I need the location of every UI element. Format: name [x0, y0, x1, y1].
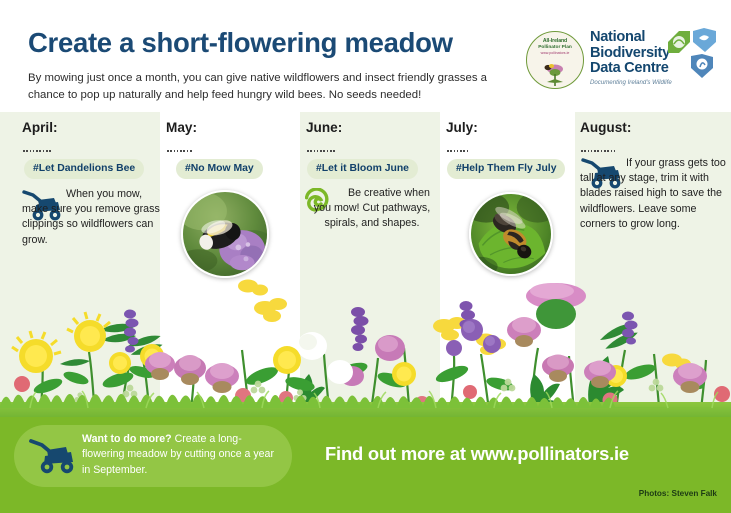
- month-label-april: April:: [22, 120, 58, 135]
- logo-group: All-Ireland Pollinator Plan www.pollinat…: [514, 28, 719, 94]
- all-ireland-pollinator-plan-badge: All-Ireland Pollinator Plan www.pollinat…: [526, 31, 584, 89]
- meadow-illustration: [0, 268, 731, 428]
- hashtag-may: #No Mow May: [176, 159, 263, 179]
- hashtag-april: #Let Dandelions Bee: [24, 159, 144, 179]
- photo-credit: Photos: Steven Falk: [639, 489, 717, 498]
- dotted-rule-may: [167, 139, 193, 142]
- org-tagline: Documenting Ireland's Wildlife: [590, 79, 672, 86]
- dotted-rule-april: [23, 139, 53, 142]
- national-biodiversity-data-centre-wordmark: National Biodiversity Data Centre Docume…: [590, 30, 672, 86]
- infographic-poster: Create a short-flowering meadow By mowin…: [0, 0, 731, 513]
- badge-url: www.pollinators.ie: [527, 51, 583, 55]
- page-title: Create a short-flowering meadow: [28, 27, 453, 59]
- thistle-illustration-icon: [535, 62, 575, 88]
- find-out-more-text: Find out more at www.pollinators.ie: [325, 443, 629, 465]
- nbdc-emblem-icon: [665, 28, 719, 80]
- month-label-august: August:: [580, 120, 631, 135]
- body-text-april: When you mow, make sure you remove grass…: [22, 187, 162, 248]
- hoverfly-on-leaf-photo: [469, 192, 553, 276]
- lawnmower-icon: [26, 437, 78, 475]
- org-line2: Biodiversity: [590, 46, 672, 62]
- org-line1: National: [590, 30, 672, 46]
- badge-line2: Pollinator Plan: [527, 45, 583, 50]
- dotted-rule-june: [307, 139, 337, 142]
- bottom-banner: Want to do more? Create a long-flowering…: [0, 417, 731, 513]
- dotted-rule-july: [447, 139, 470, 142]
- bumblebee-on-scabious-photo: [181, 190, 269, 278]
- header: Create a short-flowering meadow By mowin…: [0, 0, 731, 112]
- callout-bold: Want to do more?: [82, 433, 172, 445]
- dotted-rule-august: [581, 139, 617, 142]
- org-line3: Data Centre: [590, 61, 672, 77]
- body-text-august: If your grass gets too tall at any stage…: [580, 156, 726, 232]
- badge-line1: All-Ireland: [527, 38, 583, 44]
- month-label-june: June:: [306, 120, 342, 135]
- hashtag-july: #Help Them Fly July: [447, 159, 565, 179]
- hashtag-june: #Let it Bloom June: [307, 159, 418, 179]
- want-to-do-more-text: Want to do more? Create a long-flowering…: [82, 432, 278, 478]
- body-text-june: Be creative when you mow! Cut pathways, …: [306, 186, 438, 232]
- month-label-july: July:: [446, 120, 478, 135]
- month-label-may: May:: [166, 120, 197, 135]
- page-subtitle: By mowing just once a month, you can giv…: [28, 70, 508, 104]
